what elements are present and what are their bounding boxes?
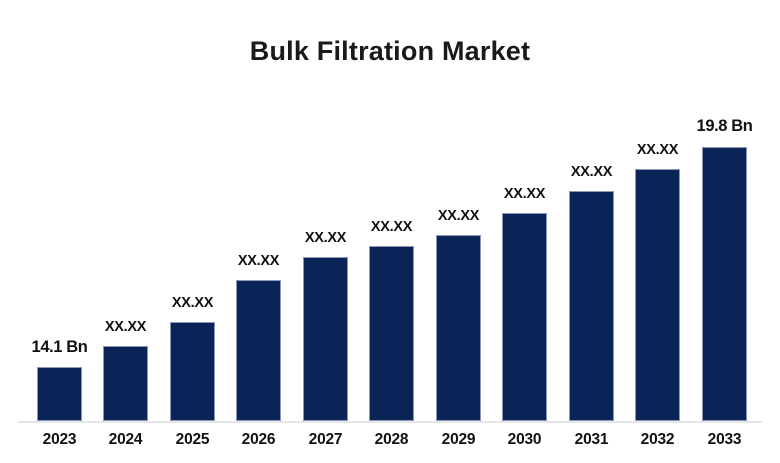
bar[interactable] — [303, 257, 348, 421]
x-axis-tick-label: 2024 — [109, 431, 143, 449]
bar-value-label: 19.8 Bn — [697, 117, 753, 136]
bar-value-label: XX.XX — [172, 295, 213, 311]
x-axis-tick-label: 2027 — [309, 431, 343, 449]
x-axis-tick-label: 2033 — [708, 431, 742, 449]
bar-group: 19.8 Bn 2033 — [702, 0, 747, 463]
bar-chart: Bulk Filtration Market 14.1 Bn 2023 XX.X… — [0, 0, 780, 463]
bar-value-label: 14.1 Bn — [32, 338, 88, 357]
x-axis-tick-label: 2030 — [508, 431, 542, 449]
bar[interactable] — [236, 280, 281, 421]
bar-group: XX.XX 2030 — [502, 0, 547, 463]
bar-group: XX.XX 2024 — [103, 0, 148, 463]
bar-value-label: XX.XX — [238, 253, 279, 269]
x-axis-tick-label: 2031 — [575, 431, 609, 449]
bar-value-label: XX.XX — [571, 164, 612, 180]
bar[interactable] — [635, 169, 680, 421]
x-axis-tick-label: 2028 — [375, 431, 409, 449]
bar-group: XX.XX 2031 — [569, 0, 614, 463]
bar[interactable] — [369, 246, 414, 421]
bar-group: XX.XX 2026 — [236, 0, 281, 463]
bar-value-label: XX.XX — [305, 230, 346, 246]
bar-value-label: XX.XX — [438, 208, 479, 224]
bar-group: XX.XX 2032 — [635, 0, 680, 463]
x-axis-tick-label: 2029 — [442, 431, 476, 449]
plot-area: 14.1 Bn 2023 XX.XX 2024 XX.XX 2025 XX.XX… — [0, 0, 780, 463]
bar-value-label: XX.XX — [371, 219, 412, 235]
bar-value-label: XX.XX — [504, 186, 545, 202]
bar-group: XX.XX 2027 — [303, 0, 348, 463]
x-axis-tick-label: 2032 — [641, 431, 675, 449]
bar[interactable] — [436, 235, 481, 421]
x-axis-tick-label: 2025 — [176, 431, 210, 449]
bar-group: XX.XX 2028 — [369, 0, 414, 463]
bar-value-label: XX.XX — [637, 142, 678, 158]
bar[interactable] — [170, 322, 215, 421]
bar[interactable] — [502, 213, 547, 421]
bar[interactable] — [702, 147, 747, 421]
x-axis-tick-label: 2023 — [43, 431, 77, 449]
bar[interactable] — [569, 191, 614, 421]
bar[interactable] — [37, 367, 82, 421]
bar[interactable] — [103, 346, 148, 421]
bar-value-label: XX.XX — [105, 319, 146, 335]
bar-group: XX.XX 2025 — [170, 0, 215, 463]
bar-group: XX.XX 2029 — [436, 0, 481, 463]
x-axis-tick-label: 2026 — [242, 431, 276, 449]
bar-group: 14.1 Bn 2023 — [37, 0, 82, 463]
